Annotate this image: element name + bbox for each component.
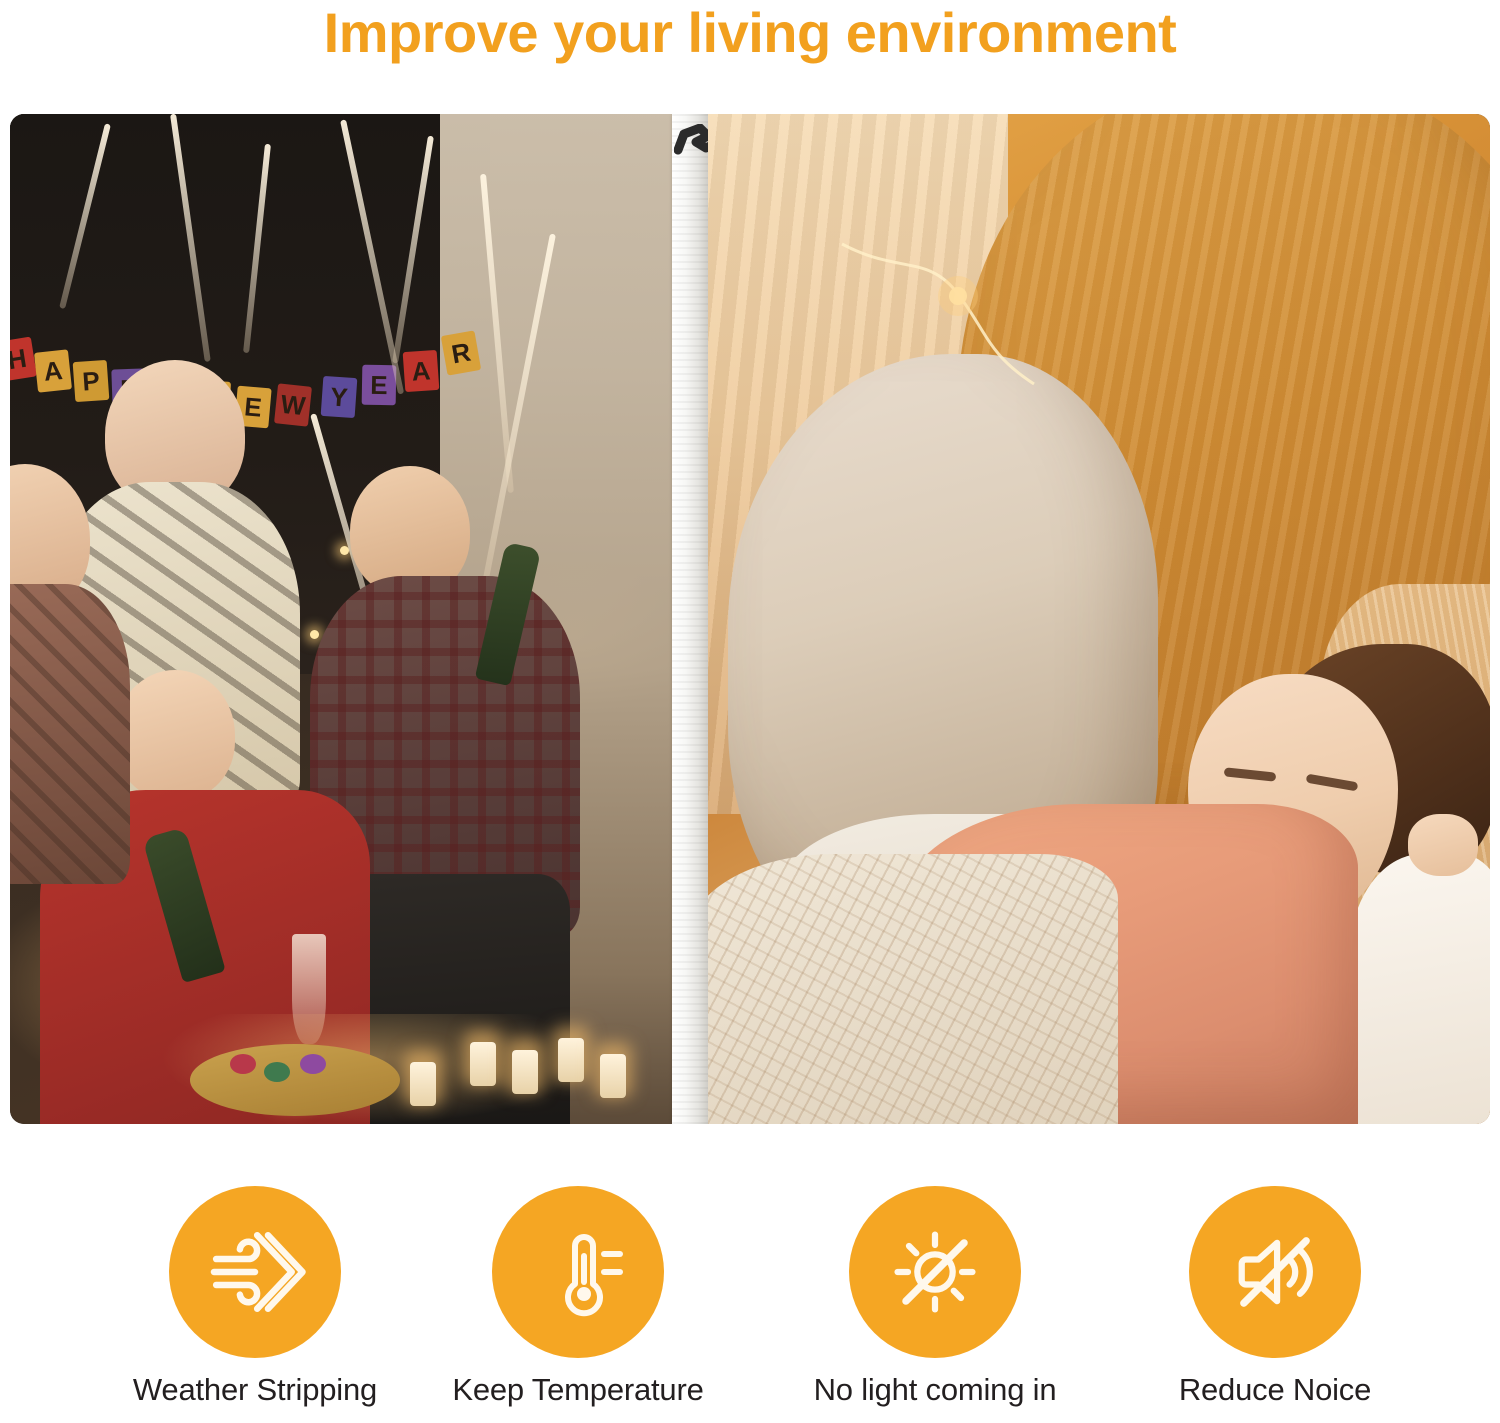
page-title: Improve your living environment [0,0,1500,72]
child-arm [1348,854,1490,1124]
feature-list: Weather Stripping Keep Temperature [0,1186,1500,1423]
thermometer-icon [528,1222,628,1322]
product-feature-page: Improve your living environment H [0,0,1500,1423]
feature-reduce-noise[interactable]: Reduce Noice [1145,1186,1405,1408]
feature-badge [492,1186,664,1358]
new-year-party-photo: H A P P Y N E W Y E A R [10,114,682,1124]
hero-image-block: H A P P Y N E W Y E A R [10,114,1490,1124]
feature-badge [169,1186,341,1358]
child-hand [1408,814,1478,876]
party-table [160,1014,590,1124]
feature-label: Reduce Noice [1145,1372,1405,1408]
feature-no-light[interactable]: No light coming in [805,1186,1065,1408]
feature-weather-stripping[interactable]: Weather Stripping [125,1186,385,1408]
weather-stripping-strip [672,114,708,1124]
feature-badge [1189,1186,1361,1358]
feature-label: Weather Stripping [125,1372,385,1408]
feature-keep-temperature[interactable]: Keep Temperature [448,1186,708,1408]
knit-throw [708,854,1118,1124]
feature-label: No light coming in [805,1372,1065,1408]
sleeping-child-photo [708,114,1490,1124]
sun-slash-icon [883,1220,987,1324]
feature-badge [849,1186,1021,1358]
string-light-icon [838,234,1038,404]
feature-label: Keep Temperature [448,1372,708,1408]
strip-texture [672,114,708,1124]
wind-flow-icon [201,1218,309,1326]
happy-new-year-banner: H A P P Y N E W Y E A R [10,299,500,419]
speaker-muted-icon [1223,1220,1327,1324]
